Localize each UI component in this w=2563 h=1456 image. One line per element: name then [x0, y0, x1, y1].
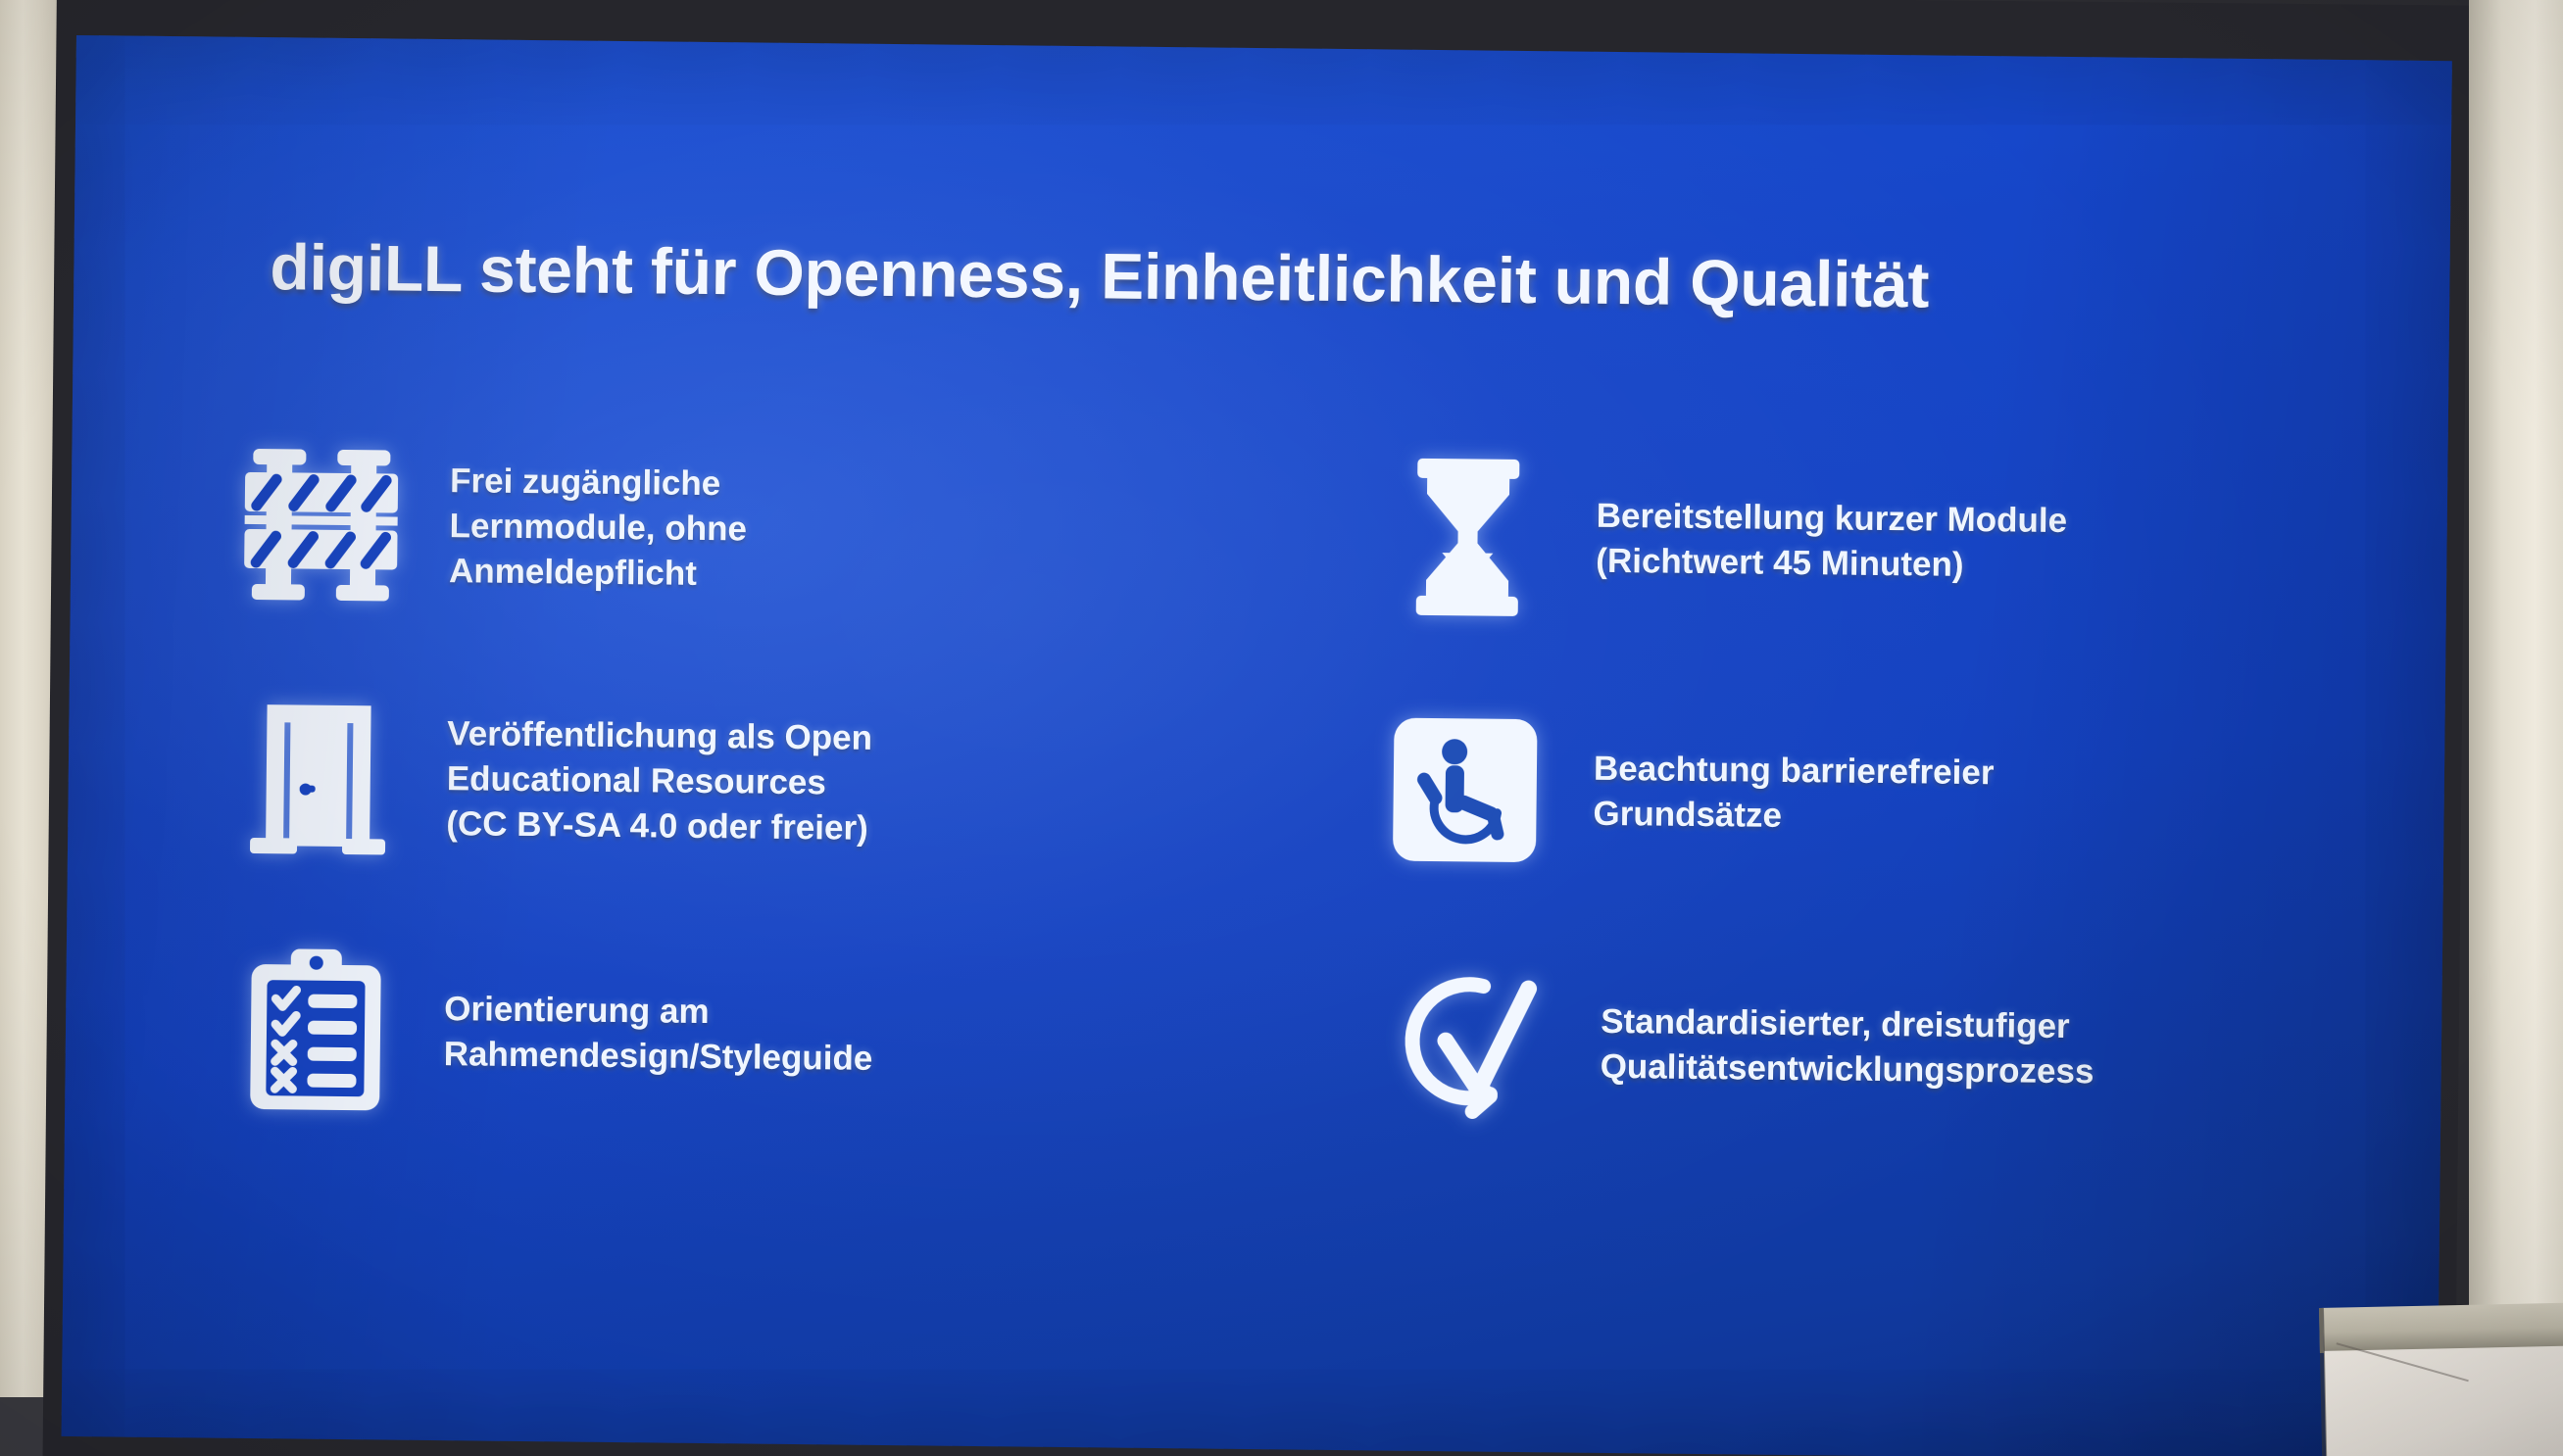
feature-grid: Frei zugängliche Lernmodule, ohne Anmeld… — [231, 398, 2317, 1179]
clipboard-checklist-icon — [231, 946, 400, 1115]
checkmark-cycle-icon — [1388, 959, 1547, 1128]
wall-right-strip — [2469, 0, 2563, 1456]
feature-item-styleguide: Orientierung am Rahmendesign/Styleguide — [231, 903, 1332, 1168]
feature-text: Veröffentlichung als Open Educational Re… — [446, 711, 872, 851]
feature-text-line: Veröffentlichung als Open — [447, 711, 872, 761]
feature-text: Beachtung barrierefreier Grundsätze — [1593, 747, 1994, 842]
hourglass-icon — [1394, 454, 1543, 622]
wheelchair-accessibility-icon — [1391, 706, 1540, 875]
feature-text: Orientierung am Rahmendesign/Styleguide — [444, 987, 874, 1082]
road-barrier-icon — [237, 441, 406, 609]
open-door-icon — [234, 694, 403, 862]
feature-item-oer-license: Veröffentlichung als Open Educational Re… — [233, 651, 1334, 915]
feature-text-line: Standardisierter, dreistufiger — [1601, 999, 2095, 1050]
feature-text-line: Grundsätze — [1593, 792, 1994, 842]
feature-text-line: Anmeldepflicht — [449, 549, 747, 597]
feature-text-line: Orientierung am — [444, 987, 873, 1037]
flipchart-paper — [2324, 1346, 2563, 1456]
feature-item-open-access: Frei zugängliche Lernmodule, ohne Anmeld… — [236, 398, 1337, 662]
feature-text-line: Qualitätsentwicklungsprozess — [1600, 1044, 2094, 1095]
feature-text-line: Bereitstellung kurzer Module — [1597, 494, 2068, 544]
feature-text-line: Frei zugängliche — [450, 459, 748, 507]
feature-item-quality-process: Standardisierter, dreistufiger Qualitäts… — [1329, 915, 2312, 1179]
feature-text-line: (CC BY-SA 4.0 oder freier) — [446, 801, 871, 851]
feature-text: Frei zugängliche Lernmodule, ohne Anmeld… — [449, 459, 748, 598]
feature-item-short-modules: Bereitstellung kurzer Module (Richtwert … — [1334, 410, 2317, 673]
photo-of-projected-slide: digiLL steht für Openness, Einheitlichke… — [0, 0, 2563, 1456]
feature-text-line: Educational Resources — [447, 756, 872, 806]
flipchart-foreground-object — [2319, 1303, 2563, 1456]
page-title: digiLL steht für Openness, Einheitlichke… — [270, 229, 2280, 325]
feature-text: Standardisierter, dreistufiger Qualitäts… — [1600, 999, 2095, 1095]
feature-text-line: (Richtwert 45 Minuten) — [1596, 539, 2067, 589]
feature-text-line: Beachtung barrierefreier — [1594, 747, 1995, 797]
feature-text-line: Rahmendesign/Styleguide — [444, 1032, 873, 1082]
feature-item-accessibility: Beachtung barrierefreier Grundsätze — [1331, 662, 2314, 926]
flipchart-rail — [2319, 1302, 2563, 1353]
feature-text-line: Lernmodule, ohne — [449, 504, 747, 552]
feature-text: Bereitstellung kurzer Module (Richtwert … — [1596, 494, 2067, 590]
presentation-slide: digiLL steht für Openness, Einheitlichke… — [62, 35, 2452, 1456]
